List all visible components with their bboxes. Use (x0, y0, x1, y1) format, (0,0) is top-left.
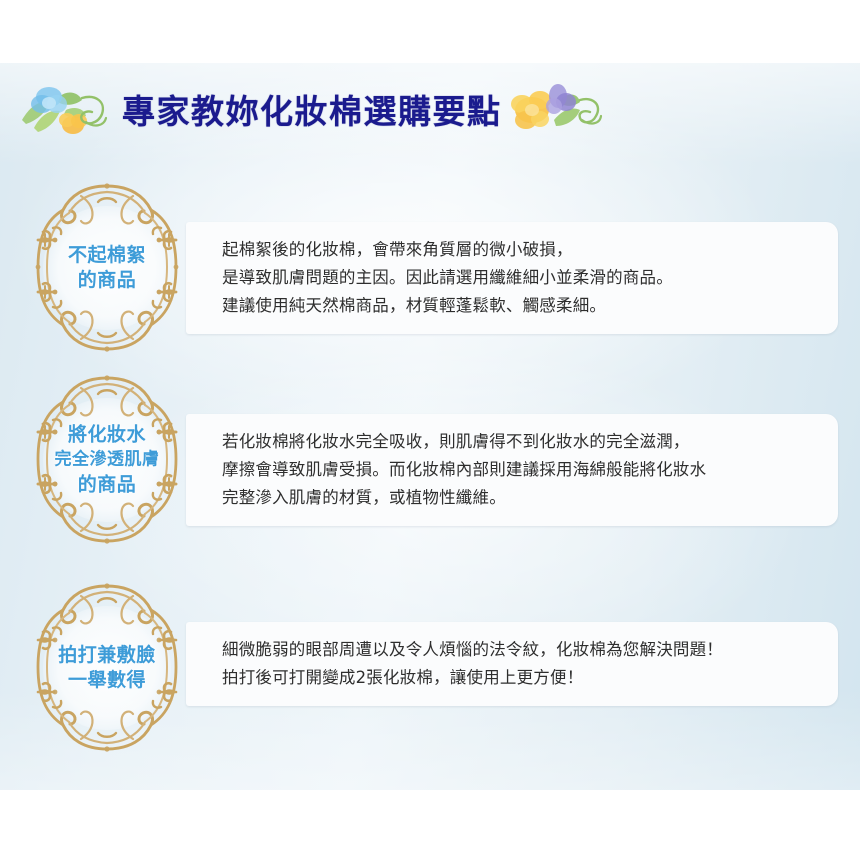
tip-body-line: 是導致肌膚問題的主因。因此請選用纖維細小並柔滑的商品。 (222, 264, 820, 292)
tip-badge-2: 將化妝水 完全滲透肌膚 的商品 (18, 372, 196, 547)
tip-body-line: 拍打後可打開變成2張化妝棉，讓使用上更方便！ (222, 664, 820, 692)
tip-body-line: 若化妝棉將化妝水完全吸收，則肌膚得不到化妝水的完全滋潤， (222, 428, 820, 456)
tip-badge-3: 拍打兼敷臉 一舉數得 (18, 580, 196, 755)
tip-body-line: 起棉絮後的化妝棉，會帶來角質層的微小破損， (222, 236, 820, 264)
badge-label-2: 將化妝水 完全滲透肌膚 的商品 (42, 422, 172, 497)
tip-text-panel-3: 細微脆弱的眼部周遭以及令人煩惱的法令紋，化妝棉為您解決問題！ 拍打後可打開變成2… (186, 622, 838, 706)
badge-label-1: 不起棉絮 的商品 (42, 243, 172, 293)
tip-section-1: 起棉絮後的化妝棉，會帶來角質層的微小破損， 是導致肌膚問題的主因。因此請選用纖維… (0, 178, 860, 356)
badge-line: 不起棉絮 (42, 243, 172, 268)
page-title: 專家教妳化妝棉選購要點 (122, 85, 502, 133)
flower-leaf-decoration-right-icon (508, 76, 606, 142)
infographic-page: 專家教妳化妝棉選購要點 (0, 0, 860, 860)
tip-body-line: 摩擦會導致肌膚受損。而化妝棉內部則建議採用海綿般能將化妝水 (222, 456, 820, 484)
tip-body-line: 細微脆弱的眼部周遭以及令人煩惱的法令紋，化妝棉為您解決問題！ (222, 636, 820, 664)
tip-text-panel-1: 起棉絮後的化妝棉，會帶來角質層的微小破損， 是導致肌膚問題的主因。因此請選用纖維… (186, 222, 838, 334)
flower-leaf-decoration-left-icon (16, 76, 114, 142)
tip-body-line: 建議使用純天然棉商品，材質輕蓬鬆軟、觸感柔細。 (222, 292, 820, 320)
badge-line: 將化妝水 (42, 422, 172, 447)
tip-section-2: 若化妝棉將化妝水完全吸收，則肌膚得不到化妝水的完全滋潤， 摩擦會導致肌膚受損。而… (0, 370, 860, 548)
badge-line: 的商品 (42, 472, 172, 497)
tip-section-3: 細微脆弱的眼部周遭以及令人煩惱的法令紋，化妝棉為您解決問題！ 拍打後可打開變成2… (0, 578, 860, 756)
tip-badge-1: 不起棉絮 的商品 (18, 180, 196, 355)
tip-text-panel-2: 若化妝棉將化妝水完全吸收，則肌膚得不到化妝水的完全滋潤， 摩擦會導致肌膚受損。而… (186, 414, 838, 526)
page-header: 專家教妳化妝棉選購要點 (0, 70, 860, 148)
badge-line: 的商品 (42, 268, 172, 293)
badge-label-3: 拍打兼敷臉 一舉數得 (42, 643, 172, 693)
badge-line: 一舉數得 (42, 668, 172, 693)
badge-line: 完全滲透肌膚 (42, 447, 172, 472)
badge-line: 拍打兼敷臉 (42, 643, 172, 668)
tip-body-line: 完整滲入肌膚的材質，或植物性纖維。 (222, 484, 820, 512)
